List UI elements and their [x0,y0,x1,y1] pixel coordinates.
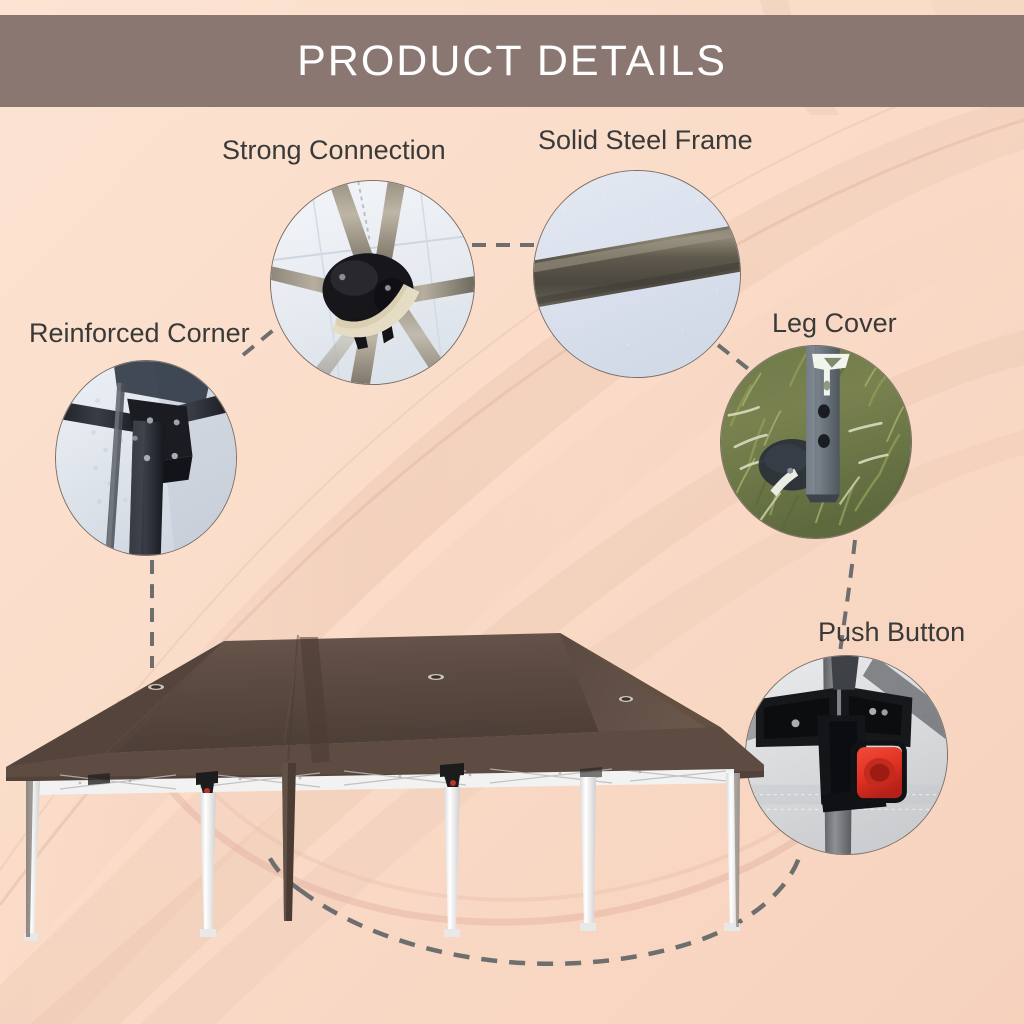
product-photo-gazebo [0,615,770,955]
detail-photo-strong-connection [270,180,475,385]
detail-photo-reinforced-corner [55,360,237,556]
callout-label-strong-connection: Strong Connection [222,135,446,166]
detail-photo-push-button [745,655,948,855]
infographic-page: PRODUCT DETAILS Strong Connection Solid … [0,0,1024,1024]
detail-photo-leg-cover [720,345,912,539]
callout-label-solid-steel-frame: Solid Steel Frame [538,125,753,156]
callout-label-reinforced-corner: Reinforced Corner [29,318,250,349]
detail-photo-solid-steel-frame [533,170,741,378]
page-title: PRODUCT DETAILS [297,37,727,86]
callout-label-leg-cover: Leg Cover [772,308,897,339]
header-banner: PRODUCT DETAILS [0,15,1024,107]
callout-label-push-button: Push Button [818,617,965,648]
